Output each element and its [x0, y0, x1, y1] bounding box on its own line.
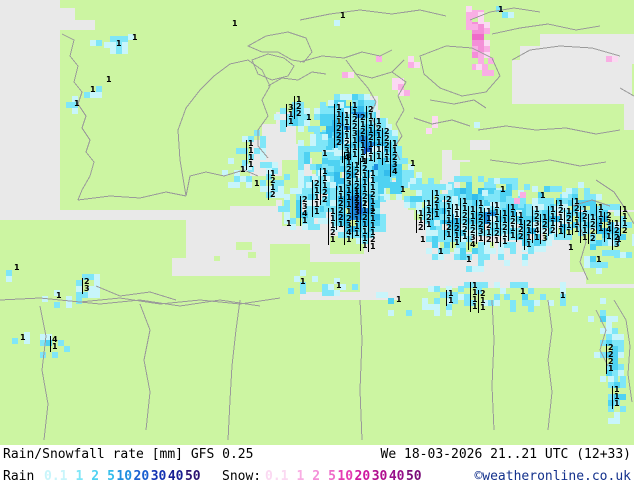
- value-tick: [374, 118, 375, 162]
- value-tick: [416, 210, 417, 233]
- precipitation-map[interactable]: 1112221111234112231112121111211121111211…: [0, 0, 634, 445]
- copyright-notice: ©weatheronline.co.uk: [474, 469, 631, 485]
- value-label: 1: [306, 114, 311, 122]
- value-tick: [492, 202, 493, 246]
- value-tick: [390, 140, 391, 177]
- value-label: 1: [614, 400, 619, 408]
- value-tick: [382, 128, 383, 165]
- value-label: 1: [330, 236, 335, 244]
- value-tick: [360, 200, 361, 251]
- value-label: 1: [526, 241, 531, 249]
- value-label: 1: [608, 365, 613, 373]
- value-tick: [596, 204, 597, 234]
- legend-stop-10: 10: [337, 469, 353, 485]
- value-tick: [500, 210, 501, 247]
- value-label: 1: [116, 40, 121, 48]
- value-label: 1: [352, 151, 357, 159]
- value-label: 1: [462, 233, 467, 241]
- value-label: 1: [616, 236, 621, 244]
- snow-legend-label: Snow:: [222, 469, 261, 485]
- value-label: 2: [270, 191, 275, 199]
- chart-title: Rain/Snowfall rate [mm] GFS 0.25: [3, 447, 253, 463]
- value-label: 1: [384, 156, 389, 164]
- value-tick: [588, 214, 589, 244]
- value-label: 1: [106, 76, 111, 84]
- legend-stop-30: 30: [372, 469, 388, 485]
- value-tick: [336, 186, 337, 230]
- value-tick: [478, 290, 479, 313]
- legend-stop-1: 1: [75, 469, 83, 485]
- value-label: 3: [84, 285, 89, 293]
- value-label: 1: [362, 242, 367, 250]
- value-label: 1: [314, 208, 319, 216]
- value-tick: [294, 96, 295, 119]
- value-label: 1: [534, 234, 539, 242]
- value-label-layer: 1112221111234112231112121111211121111211…: [0, 0, 634, 445]
- legend-stop-30: 30: [151, 469, 167, 485]
- value-label: 1: [494, 237, 499, 245]
- value-label: 1: [300, 278, 305, 286]
- value-label: 1: [426, 221, 431, 229]
- value-tick: [460, 198, 461, 242]
- value-label: 2: [550, 227, 555, 235]
- value-tick: [320, 168, 321, 205]
- legend-stop-10: 10: [116, 469, 132, 485]
- value-label: 1: [396, 296, 401, 304]
- legend-stop-5: 5: [107, 469, 115, 485]
- value-label: 1: [420, 236, 425, 244]
- value-label: 1: [254, 180, 259, 188]
- value-label: 1: [90, 86, 95, 94]
- value-label: 1: [248, 161, 253, 169]
- value-tick: [342, 112, 343, 163]
- value-label: 1: [448, 297, 453, 305]
- value-label: 1: [288, 118, 293, 126]
- value-tick: [564, 208, 565, 238]
- value-label: 1: [286, 220, 291, 228]
- value-tick: [540, 214, 541, 244]
- value-tick: [612, 220, 613, 250]
- value-label: 1: [596, 256, 601, 264]
- value-tick: [452, 204, 453, 248]
- legend-stop-2: 2: [91, 469, 99, 485]
- value-tick: [358, 114, 359, 165]
- value-label: 1: [400, 186, 405, 194]
- rain-legend-label: Rain: [3, 469, 34, 485]
- footer-scale-row: Rain 0.11251020304050 Snow: 0.1125102030…: [0, 469, 634, 491]
- forecast-timestamp: We 18-03-2026 21..21 UTC (12+33): [381, 447, 631, 463]
- value-tick: [286, 104, 287, 127]
- value-label: 1: [438, 248, 443, 256]
- value-tick: [580, 206, 581, 243]
- value-label: 1: [560, 292, 565, 300]
- value-tick: [476, 200, 477, 244]
- value-tick: [604, 212, 605, 242]
- value-label: 1: [354, 230, 359, 238]
- value-label: 1: [410, 160, 415, 168]
- legend-stop-2: 2: [312, 469, 320, 485]
- value-label: 1: [370, 243, 375, 251]
- value-tick: [334, 104, 335, 148]
- value-label: 4: [470, 241, 475, 249]
- value-tick: [366, 106, 367, 164]
- value-label: 1: [574, 226, 579, 234]
- value-label: 1: [338, 221, 343, 229]
- value-label: 1: [582, 234, 587, 242]
- value-label: 1: [14, 264, 19, 272]
- value-tick: [612, 386, 613, 409]
- value-label: 1: [340, 12, 345, 20]
- value-tick: [484, 208, 485, 245]
- value-label: 1: [52, 343, 57, 351]
- value-tick: [606, 344, 607, 374]
- value-tick: [572, 198, 573, 235]
- legend-stop-5: 5: [328, 469, 336, 485]
- legend-stop-20: 20: [355, 469, 371, 485]
- value-tick: [470, 282, 471, 312]
- legend-stop-0.1: 0.1: [265, 469, 288, 485]
- weather-map-page: 1112221111234112231112121111211121111211…: [0, 0, 634, 490]
- value-tick: [508, 204, 509, 241]
- value-label: 1: [376, 153, 381, 161]
- value-tick: [556, 200, 557, 237]
- legend-stop-40: 40: [389, 469, 405, 485]
- value-label: 1: [540, 192, 545, 200]
- value-label: 1: [566, 229, 571, 237]
- value-tick: [246, 140, 247, 170]
- value-tick: [328, 208, 329, 245]
- value-label: 1: [336, 282, 341, 290]
- value-tick: [532, 206, 533, 243]
- value-label: 1: [132, 34, 137, 42]
- value-label: 2: [622, 227, 627, 235]
- value-label: 2: [336, 139, 341, 147]
- value-label: 2: [418, 224, 423, 232]
- value-label: 1: [302, 217, 307, 225]
- legend-stop-0.1: 0.1: [44, 469, 67, 485]
- value-label: 1: [322, 150, 327, 158]
- value-tick: [50, 336, 51, 352]
- value-label: 1: [232, 20, 237, 28]
- value-label: 1: [480, 304, 485, 312]
- value-label: 1: [606, 233, 611, 241]
- value-tick: [444, 196, 445, 240]
- footer-title-row: Rain/Snowfall rate [mm] GFS 0.25 We 18-0…: [0, 447, 634, 469]
- value-label: 1: [598, 225, 603, 233]
- value-label: 1: [500, 186, 505, 194]
- value-label: 1: [74, 100, 79, 108]
- value-label: 2: [590, 235, 595, 243]
- value-tick: [268, 170, 269, 200]
- value-tick: [446, 290, 447, 306]
- value-tick: [516, 212, 517, 242]
- value-label: 1: [446, 231, 451, 239]
- value-label: 3: [542, 235, 547, 243]
- value-tick: [300, 196, 301, 226]
- value-label: 1: [368, 155, 373, 163]
- value-label: 1: [454, 239, 459, 247]
- legend-stop-40: 40: [168, 469, 184, 485]
- value-tick: [424, 200, 425, 230]
- value-label: 1: [466, 256, 471, 264]
- value-label: 2: [518, 233, 523, 241]
- map-footer: Rain/Snowfall rate [mm] GFS 0.25 We 18-0…: [0, 445, 634, 490]
- value-tick: [432, 190, 433, 220]
- value-label: 2: [486, 236, 491, 244]
- value-label: 1: [568, 244, 573, 252]
- value-tick: [352, 188, 353, 239]
- legend-stop-20: 20: [134, 469, 150, 485]
- value-label: 1: [240, 166, 245, 174]
- value-label: 1: [472, 303, 477, 311]
- legend-stop-1: 1: [296, 469, 304, 485]
- value-tick: [82, 278, 83, 294]
- value-label: 4: [392, 168, 397, 176]
- legend-stop-50: 50: [406, 469, 422, 485]
- value-label: 1: [498, 6, 503, 14]
- value-label: 2: [296, 110, 301, 118]
- value-tick: [468, 206, 469, 250]
- value-label: 1: [510, 232, 515, 240]
- value-tick: [620, 206, 621, 236]
- value-label: 1: [20, 334, 25, 342]
- value-tick: [312, 180, 313, 217]
- value-tick: [344, 194, 345, 245]
- legend-stop-50: 50: [185, 469, 201, 485]
- value-label: 1: [434, 211, 439, 219]
- value-label: 1: [346, 236, 351, 244]
- value-label: 1: [478, 235, 483, 243]
- value-label: 1: [502, 238, 507, 246]
- value-label: 1: [558, 228, 563, 236]
- value-tick: [524, 220, 525, 250]
- value-label: 2: [322, 196, 327, 204]
- value-label: 1: [56, 292, 61, 300]
- value-label: 1: [520, 288, 525, 296]
- value-tick: [368, 208, 369, 252]
- value-tick: [548, 206, 549, 236]
